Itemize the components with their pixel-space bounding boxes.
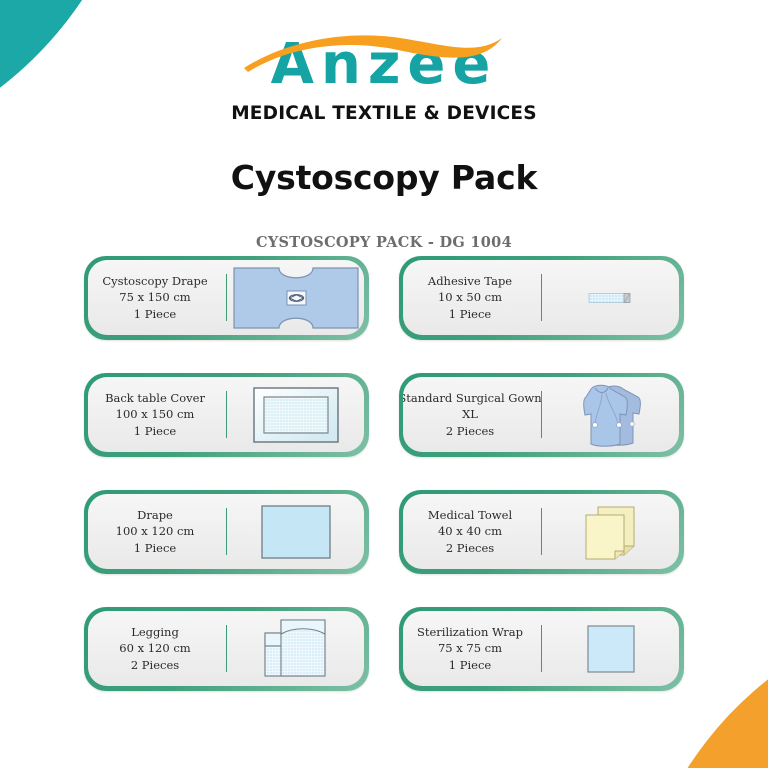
item-text-block: Cystoscopy Drape 75 x 150 cm 1 Piece (88, 260, 226, 335)
medical-towel-icon (582, 504, 640, 560)
item-name: Adhesive Tape (428, 273, 512, 289)
item-size: 100 x 150 cm (116, 406, 195, 422)
item-name: Sterilization Wrap (417, 624, 523, 640)
item-text-block: Adhesive Tape 10 x 50 cm 1 Piece (403, 260, 541, 335)
item-text-block: Standard Surgical Gown XL 2 Pieces (403, 377, 541, 452)
page-subtitle: CYSTOSCOPY PACK - DG 1004 (0, 234, 768, 251)
item-size: 75 x 150 cm (119, 289, 190, 305)
item-illustration (227, 494, 364, 569)
item-illustration (542, 377, 679, 452)
brand-logo: Anzee MEDICAL TEXTILE & DEVICES (0, 34, 768, 124)
item-qty: 1 Piece (449, 657, 491, 673)
pack-item-card: Legging 60 x 120 cm 2 Pieces (84, 607, 369, 691)
item-text-block: Drape 100 x 120 cm 1 Piece (88, 494, 226, 569)
pack-item-card: Cystoscopy Drape 75 x 150 cm 1 Piece (84, 256, 369, 340)
item-qty: 1 Piece (134, 540, 176, 556)
item-qty: 1 Piece (134, 306, 176, 322)
item-name: Standard Surgical Gown (403, 390, 542, 406)
item-name: Cystoscopy Drape (102, 273, 207, 289)
item-size: 10 x 50 cm (438, 289, 502, 305)
logo-mark: Anzee (240, 34, 528, 96)
logo-swoosh-icon (240, 34, 528, 80)
item-size: 40 x 40 cm (438, 523, 502, 539)
plain-drape-icon (261, 505, 331, 559)
item-qty: 2 Pieces (131, 657, 179, 673)
item-qty: 1 Piece (134, 423, 176, 439)
item-qty: 1 Piece (449, 306, 491, 322)
item-qty: 2 Pieces (446, 423, 494, 439)
drape-with-fenestration-icon (233, 267, 359, 329)
sterilization-wrap-icon (587, 625, 635, 673)
adhesive-tape-icon (586, 288, 636, 308)
legging-icon (261, 615, 331, 683)
item-size: 75 x 75 cm (438, 640, 502, 656)
item-name: Drape (137, 507, 173, 523)
pack-item-card: Medical Towel 40 x 40 cm 2 Pieces (399, 490, 684, 574)
logo-tagline: MEDICAL TEXTILE & DEVICES (0, 103, 768, 124)
back-table-cover-icon (253, 384, 339, 446)
item-qty: 2 Pieces (446, 540, 494, 556)
item-text-block: Legging 60 x 120 cm 2 Pieces (88, 611, 226, 686)
item-text-block: Back table Cover 100 x 150 cm 1 Piece (88, 377, 226, 452)
surgical-gown-icon (575, 380, 647, 450)
item-size: 100 x 120 cm (116, 523, 195, 539)
item-text-block: Sterilization Wrap 75 x 75 cm 1 Piece (403, 611, 541, 686)
item-size: XL (462, 406, 478, 422)
item-text-block: Medical Towel 40 x 40 cm 2 Pieces (403, 494, 541, 569)
pack-item-card: Back table Cover 100 x 150 cm 1 Piece (84, 373, 369, 457)
product-sheet: Anzee MEDICAL TEXTILE & DEVICES Cystosco… (0, 0, 768, 768)
pack-item-card: Sterilization Wrap 75 x 75 cm 1 Piece (399, 607, 684, 691)
item-illustration (542, 260, 679, 335)
item-illustration (227, 260, 364, 335)
pack-item-card: Standard Surgical Gown XL 2 Pieces (399, 373, 684, 457)
item-illustration (227, 377, 364, 452)
item-illustration (227, 611, 364, 686)
item-name: Back table Cover (105, 390, 205, 406)
page-title: Cystoscopy Pack (0, 158, 768, 197)
item-size: 60 x 120 cm (119, 640, 190, 656)
pack-contents-grid: Cystoscopy Drape 75 x 150 cm 1 Piece (84, 256, 684, 691)
item-illustration (542, 494, 679, 569)
item-illustration (542, 611, 679, 686)
item-name: Legging (131, 624, 179, 640)
item-name: Medical Towel (428, 507, 512, 523)
pack-item-card: Drape 100 x 120 cm 1 Piece (84, 490, 369, 574)
pack-item-card: Adhesive Tape 10 x 50 cm 1 Piece (399, 256, 684, 340)
